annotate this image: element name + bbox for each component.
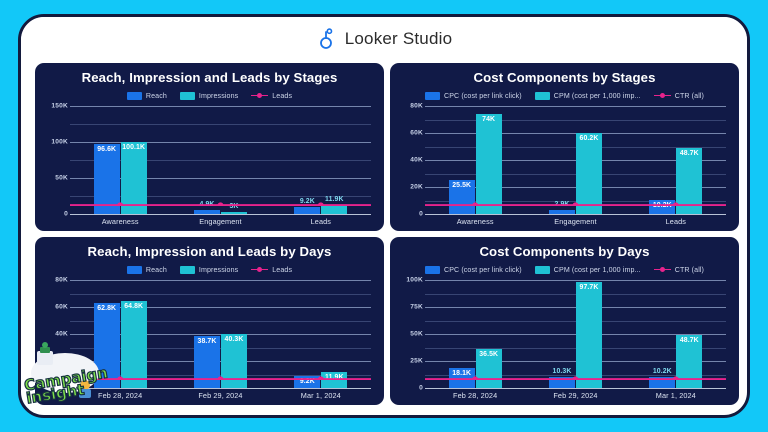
y-axis-tick-label: 150K (51, 103, 68, 110)
chart-legend: ReachImpressionsLeads (44, 90, 375, 101)
bar-group: 10.2K48.7K (626, 106, 726, 214)
x-axis-tick-label: Feb 28, 2024 (425, 391, 525, 400)
plot-area: 80K60K40K20K062.8K64.8K38.7K40.3K9.2K11.… (70, 280, 371, 388)
y-axis-tick-label: 100K (406, 277, 423, 284)
bar[interactable]: 38.7K (194, 336, 220, 388)
legend-item[interactable]: CPM (cost per 1,000 imp... (535, 266, 641, 274)
legend-line-marker-icon (654, 92, 671, 100)
x-axis-tick-label: Feb 28, 2024 (70, 391, 170, 400)
bar[interactable]: 2.9K (549, 210, 575, 214)
x-axis-tick-label: Feb 29, 2024 (170, 391, 270, 400)
x-axis: AwarenessEngagementLeads (425, 217, 726, 226)
x-axis: Feb 28, 2024Feb 29, 2024Mar 1, 2024 (425, 391, 726, 400)
bar-group: 18.1K36.5K (425, 280, 525, 388)
legend-label: CTR (all) (675, 266, 704, 274)
legend-item[interactable]: CPM (cost per 1,000 imp... (535, 92, 641, 100)
bar[interactable]: 64.8K (121, 301, 147, 388)
y-axis-tick-label: 50K (55, 174, 68, 181)
bar-group: 9.2K11.9K (271, 106, 371, 214)
bar[interactable]: 96.6K (94, 144, 120, 214)
bar-value-label: 2.9K (555, 201, 570, 208)
bar-value-label: 40.3K (225, 336, 244, 343)
chart-legend: CPC (cost per link click)CPM (cost per 1… (399, 264, 730, 275)
legend-item[interactable]: Leads (251, 266, 292, 274)
bar-value-label: 11.9K (325, 196, 344, 203)
bar-value-label: 62.8K (97, 305, 116, 312)
legend-label: Impressions (199, 266, 238, 274)
bar-group: 4.9K3K (170, 106, 270, 214)
bar[interactable]: 11.9K (321, 205, 347, 214)
chart-title: Reach, Impression and Leads by Stages (44, 70, 375, 85)
bar-value-label: 60.2K (580, 135, 599, 142)
y-axis-tick-label: 75K (410, 304, 423, 311)
legend-item[interactable]: Reach (127, 266, 167, 274)
bar[interactable]: 97.7K (576, 282, 602, 388)
plot-area: 80K60K40K20K025.5K74K2.9K60.2K10.2K48.7K (425, 106, 726, 214)
legend-color-swatch-icon (425, 92, 440, 100)
bar[interactable]: 60.2K (576, 133, 602, 214)
legend-color-swatch-icon (425, 266, 440, 274)
chart-legend: CPC (cost per link click)CPM (cost per 1… (399, 90, 730, 101)
bar[interactable]: 62.8K (94, 303, 120, 388)
y-axis: 80K60K40K20K0 (398, 106, 423, 214)
legend-item[interactable]: CTR (all) (654, 266, 704, 274)
bar-value-label: 4.9K (200, 201, 215, 208)
bar[interactable]: 10.2K (649, 377, 675, 388)
y-axis-tick-label: 0 (419, 211, 423, 218)
y-axis-tick-label: 0 (64, 211, 68, 218)
y-axis-tick-label: 40K (410, 157, 423, 164)
legend-label: Impressions (199, 92, 238, 100)
bar-group: 38.7K40.3K (170, 280, 270, 388)
chart-title: Cost Components by Days (399, 244, 730, 259)
x-axis-tick-label: Engagement (525, 217, 625, 226)
legend-label: Reach (146, 92, 167, 100)
bar-groups: 18.1K36.5K10.3K97.7K10.2K48.7K (425, 280, 726, 388)
legend-color-swatch-icon (127, 266, 142, 274)
bar[interactable]: 10.3K (549, 377, 575, 388)
plot-area: 150K100K50K096.6K100.1K4.9K3K9.2K11.9K (70, 106, 371, 214)
y-axis-tick-label: 20K (55, 358, 68, 365)
bar-value-label: 18.1K (452, 370, 471, 377)
bar-value-label: 25.5K (452, 182, 471, 189)
chart-card[interactable]: Cost Components by DaysCPC (cost per lin… (390, 237, 739, 405)
y-axis: 80K60K40K20K0 (43, 280, 68, 388)
legend-item[interactable]: Impressions (180, 266, 238, 274)
bar-group: 10.3K97.7K (525, 280, 625, 388)
x-axis-tick-label: Leads (271, 217, 371, 226)
bar-group: 9.2K11.9K (271, 280, 371, 388)
bar-group: 96.6K100.1K (70, 106, 170, 214)
legend-item[interactable]: Reach (127, 92, 167, 100)
y-axis-tick-label: 50K (410, 331, 423, 338)
chart-legend: ReachImpressionsLeads (44, 264, 375, 275)
x-axis-tick-label: Engagement (170, 217, 270, 226)
bar-group: 2.9K60.2K (525, 106, 625, 214)
legend-color-swatch-icon (535, 92, 550, 100)
bar[interactable]: 10.2K (649, 200, 675, 214)
x-axis-tick-label: Mar 1, 2024 (626, 391, 726, 400)
dashboard-screenshot: Looker Studio Reach, Impression and Lead… (0, 0, 768, 432)
bar-group: 25.5K74K (425, 106, 525, 214)
x-axis-tick-label: Awareness (70, 217, 170, 226)
legend-label: CPM (cost per 1,000 imp... (554, 266, 641, 274)
bar-value-label: 9.2K (300, 378, 315, 385)
bar-value-label: 3K (229, 203, 238, 210)
bar-value-label: 48.7K (680, 337, 699, 344)
bar[interactable]: 9.2K (294, 376, 320, 388)
report-frame: Looker Studio Reach, Impression and Lead… (18, 14, 750, 418)
bar-value-label: 11.9K (325, 374, 344, 381)
bar-value-label: 9.2K (300, 198, 315, 205)
bar[interactable]: 36.5K (476, 349, 502, 388)
y-axis-tick-label: 60K (55, 304, 68, 311)
y-axis-tick-label: 25K (410, 358, 423, 365)
bar-groups: 62.8K64.8K38.7K40.3K9.2K11.9K (70, 280, 371, 388)
legend-line-marker-icon (251, 266, 268, 274)
y-axis-tick-label: 60K (410, 130, 423, 137)
y-axis-tick-label: 80K (410, 103, 423, 110)
bar[interactable]: 48.7K (676, 335, 702, 388)
x-axis-tick-label: Mar 1, 2024 (271, 391, 371, 400)
x-axis-tick-label: Awareness (425, 217, 525, 226)
bar[interactable]: 40.3K (221, 334, 247, 388)
y-axis-tick-label: 20K (410, 184, 423, 191)
legend-label: CTR (all) (675, 92, 704, 100)
bar-value-label: 10.2K (653, 202, 672, 209)
legend-label: Leads (272, 266, 292, 274)
bar[interactable]: 9.2K (294, 207, 320, 214)
legend-color-swatch-icon (180, 266, 195, 274)
x-axis: Feb 28, 2024Feb 29, 2024Mar 1, 2024 (70, 391, 371, 400)
y-axis-tick-label: 100K (51, 138, 68, 145)
chart-card[interactable]: Cost Components by StagesCPC (cost per l… (390, 63, 739, 231)
legend-label: CPM (cost per 1,000 imp... (554, 92, 641, 100)
legend-line-marker-icon (654, 266, 671, 274)
legend-color-swatch-icon (180, 92, 195, 100)
bar-value-label: 64.8K (124, 303, 143, 310)
bar[interactable]: 74K (476, 114, 502, 214)
bar-value-label: 10.2K (653, 368, 672, 375)
legend-label: CPC (cost per link click) (444, 92, 522, 100)
x-axis: AwarenessEngagementLeads (70, 217, 371, 226)
y-axis-tick-label: 80K (55, 277, 68, 284)
bar-groups: 96.6K100.1K4.9K3K9.2K11.9K (70, 106, 371, 214)
bar-groups: 25.5K74K2.9K60.2K10.2K48.7K (425, 106, 726, 214)
legend-item[interactable]: Leads (251, 92, 292, 100)
legend-item[interactable]: Impressions (180, 92, 238, 100)
legend-label: Leads (272, 92, 292, 100)
bar-group: 10.2K48.7K (626, 280, 726, 388)
y-axis: 150K100K50K0 (43, 106, 68, 214)
bar-value-label: 38.7K (198, 338, 217, 345)
legend-item[interactable]: CTR (all) (654, 92, 704, 100)
y-axis: 100K75K50K25K0 (398, 280, 423, 388)
bar-group: 62.8K64.8K (70, 280, 170, 388)
bar-value-label: 36.5K (479, 351, 498, 358)
bar-value-label: 96.6K (97, 146, 116, 153)
chart-card[interactable]: Reach, Impression and Leads by DaysReach… (35, 237, 384, 405)
legend-color-swatch-icon (535, 266, 550, 274)
chart-title: Cost Components by Stages (399, 70, 730, 85)
page-title: Looker Studio (345, 29, 453, 49)
legend-item[interactable]: CPC (cost per link click) (425, 266, 522, 274)
bar-value-label: 48.7K (680, 150, 699, 157)
bar-value-label: 100.1K (122, 144, 145, 151)
bar[interactable]: 48.7K (676, 148, 702, 214)
bar[interactable]: 4.9K (194, 210, 220, 214)
chart-title: Reach, Impression and Leads by Days (44, 244, 375, 259)
bar[interactable]: 100.1K (121, 142, 147, 214)
plot-area: 100K75K50K25K018.1K36.5K10.3K97.7K10.2K4… (425, 280, 726, 388)
x-axis-tick-label: Feb 29, 2024 (525, 391, 625, 400)
bar[interactable]: 18.1K (449, 368, 475, 388)
legend-label: CPC (cost per link click) (444, 266, 522, 274)
chart-card[interactable]: Reach, Impression and Leads by StagesRea… (35, 63, 384, 231)
x-axis-tick-label: Leads (626, 217, 726, 226)
legend-item[interactable]: CPC (cost per link click) (425, 92, 522, 100)
bar[interactable]: 11.9K (321, 372, 347, 388)
bar-value-label: 10.3K (553, 368, 572, 375)
bar[interactable]: 25.5K (449, 180, 475, 214)
legend-color-swatch-icon (127, 92, 142, 100)
y-axis-tick-label: 0 (64, 385, 68, 392)
y-axis-tick-label: 0 (419, 385, 423, 392)
bar-value-label: 74K (482, 116, 495, 123)
bar[interactable]: 3K (221, 212, 247, 214)
legend-label: Reach (146, 266, 167, 274)
looker-studio-logo-icon (316, 28, 336, 50)
legend-line-marker-icon (251, 92, 268, 100)
y-axis-tick-label: 40K (55, 331, 68, 338)
dashboard-canvas: Reach, Impression and Leads by StagesRea… (29, 61, 745, 413)
report-header: Looker Studio (21, 17, 747, 61)
bar-value-label: 97.7K (580, 284, 599, 291)
